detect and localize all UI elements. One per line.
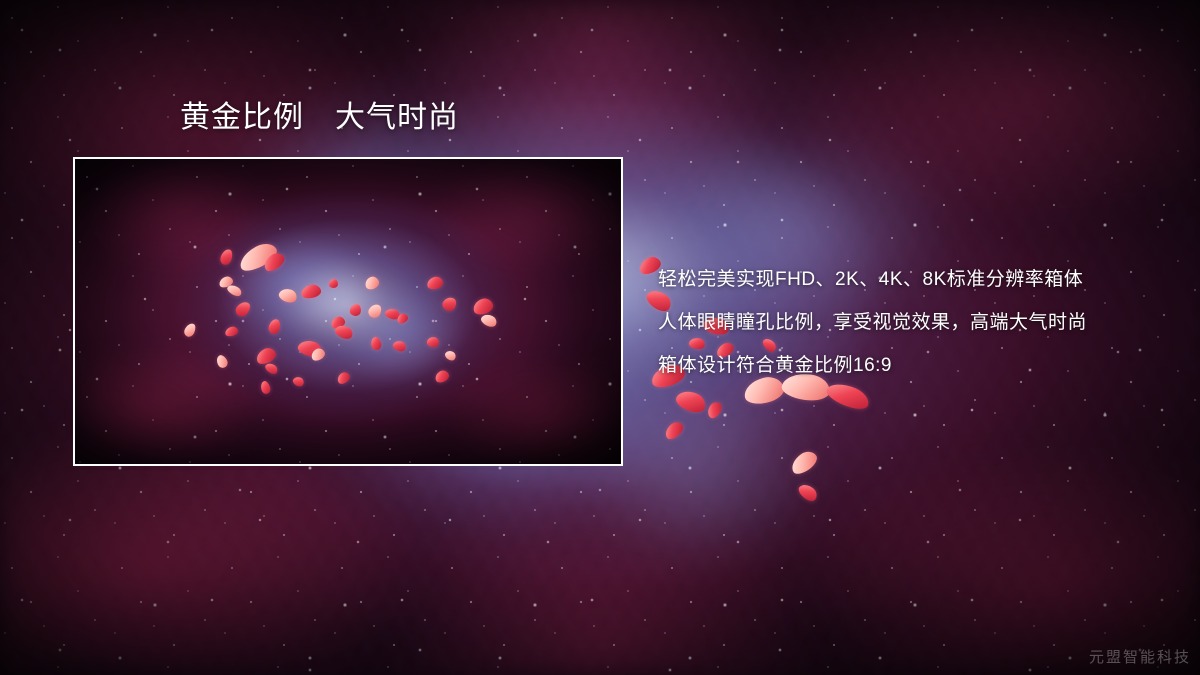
body-text-block: 轻松完美实现FHD、2K、4K、8K标准分辨率箱体 人体眼睛瞳孔比例，享受视觉效… xyxy=(658,258,1158,387)
body-line-3: 箱体设计符合黄金比例16:9 xyxy=(658,344,1158,387)
petal-4 xyxy=(662,419,686,442)
page-title: 黄金比例 大气时尚 xyxy=(180,101,459,135)
petal-10 xyxy=(788,448,821,478)
framed-image-content xyxy=(75,159,621,464)
framed-image xyxy=(73,157,623,466)
petal-11 xyxy=(796,481,820,504)
body-line-1: 轻松完美实现FHD、2K、4K、8K标准分辨率箱体 xyxy=(658,258,1158,301)
presentation-slide: 黄金比例 大气时尚 轻松完美实现FHD、2K、4K、8K标准分辨率箱体 人体眼睛… xyxy=(0,0,1200,675)
body-line-2: 人体眼睛瞳孔比例，享受视觉效果，高端大气时尚 xyxy=(658,301,1158,344)
framed-nebula-clouds xyxy=(75,159,621,464)
petal-3 xyxy=(674,387,709,416)
petal-13 xyxy=(705,400,725,421)
watermark: 元盟智能科技 xyxy=(1089,646,1191,667)
